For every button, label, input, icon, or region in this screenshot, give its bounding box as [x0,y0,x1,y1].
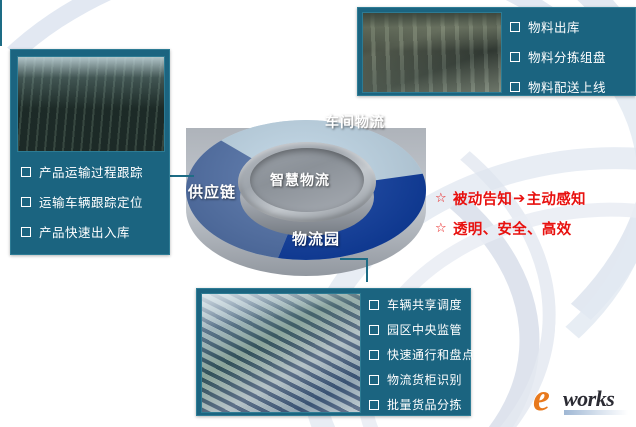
panel-supply-chain[interactable]: 产品运输过程跟踪 运输车辆跟踪定位 产品快速出入库 [10,49,170,255]
slogan-line-2: ☆ 透明、安全、高效 [435,218,635,239]
star-icon: ☆ [435,191,447,206]
list-item[interactable]: 快速通行和盘点 [369,346,475,363]
slogan-line-1: ☆ 被动告知 ➔ 主动感知 [435,188,635,209]
smart-logistics-disc: 车间物流 供应链 物流园 智慧物流 [182,106,430,276]
square-bullet-icon [510,82,520,92]
disc-label-smart-logistics: 智慧物流 [270,170,330,190]
list-item-label: 车辆共享调度 [387,296,462,313]
logo-underbar [564,410,628,415]
logistics-park-aerial-photo [201,293,361,413]
connector-top-panel [0,0,2,32]
list-item[interactable]: 物料配送上线 [510,77,606,96]
square-bullet-icon [369,325,379,335]
list-item[interactable]: 运输车辆跟踪定位 [21,192,143,211]
list-item-label: 产品运输过程跟踪 [39,162,143,181]
slogan-line-2-text: 透明、安全、高效 [453,218,571,239]
eworks-logo[interactable]: e works [533,381,629,417]
square-bullet-icon [510,52,520,62]
workshop-logistics-bullet-list: 物料出库 物料分拣组盘 物料配送上线 [510,17,606,107]
list-item-label: 物料出库 [528,17,580,36]
panel-workshop-logistics[interactable]: 物料出库 物料分拣组盘 物料配送上线 [357,7,636,96]
logistics-park-bullet-list: 车辆共享调度 园区中央监管 快速通行和盘点 物流货柜识别 批量货品分拣 [369,296,475,421]
list-item[interactable]: 批量货品分拣 [369,396,475,413]
logo-mark-e: e [533,379,549,417]
list-item-label: 快速通行和盘点 [387,346,475,363]
list-item-label: 批量货品分拣 [387,396,462,413]
list-item-label: 物料分拣组盘 [528,47,606,66]
star-icon: ☆ [435,221,447,236]
list-item[interactable]: 车辆共享调度 [369,296,475,313]
logo-wordmark: works [563,388,614,410]
list-item-label: 物流货柜识别 [387,371,462,388]
square-bullet-icon [21,197,31,207]
arrow-right-icon: ➔ [512,191,526,207]
list-item[interactable]: 物流货柜识别 [369,371,475,388]
slogan-after-text: 主动感知 [527,188,586,209]
slogan-group: ☆ 被动告知 ➔ 主动感知 ☆ 透明、安全、高效 [435,188,635,248]
list-item[interactable]: 产品快速出入库 [21,222,143,241]
slogan-before-text: 被动告知 [453,188,512,209]
list-item[interactable]: 物料分拣组盘 [510,47,606,66]
square-bullet-icon [510,22,520,32]
disc-label-workshop-logistics: 车间物流 [325,112,385,132]
warehouse-shelving-photo [17,56,165,152]
list-item-label: 物料配送上线 [528,77,606,96]
square-bullet-icon [21,227,31,237]
disc-label-supply-chain: 供应链 [188,181,236,202]
list-item[interactable]: 园区中央监管 [369,321,475,338]
factory-interior-photo [362,12,502,93]
diagram-canvas: 车间物流 供应链 物流园 智慧物流 产品运输过程跟踪 运输车辆跟踪定位 产品快速… [0,0,636,427]
square-bullet-icon [369,350,379,360]
square-bullet-icon [21,167,31,177]
list-item[interactable]: 产品运输过程跟踪 [21,162,143,181]
disc-label-logistics-park: 物流园 [292,228,340,249]
list-item-label: 产品快速出入库 [39,222,130,241]
list-item-label: 运输车辆跟踪定位 [39,192,143,211]
square-bullet-icon [369,375,379,385]
square-bullet-icon [369,400,379,410]
connector-bottom-panel-stem [0,32,2,46]
panel-logistics-park[interactable]: 车辆共享调度 园区中央监管 快速通行和盘点 物流货柜识别 批量货品分拣 [196,288,471,416]
square-bullet-icon [369,300,379,310]
list-item[interactable]: 物料出库 [510,17,606,36]
list-item-label: 园区中央监管 [387,321,462,338]
supply-chain-bullet-list: 产品运输过程跟踪 运输车辆跟踪定位 产品快速出入库 [21,162,143,252]
